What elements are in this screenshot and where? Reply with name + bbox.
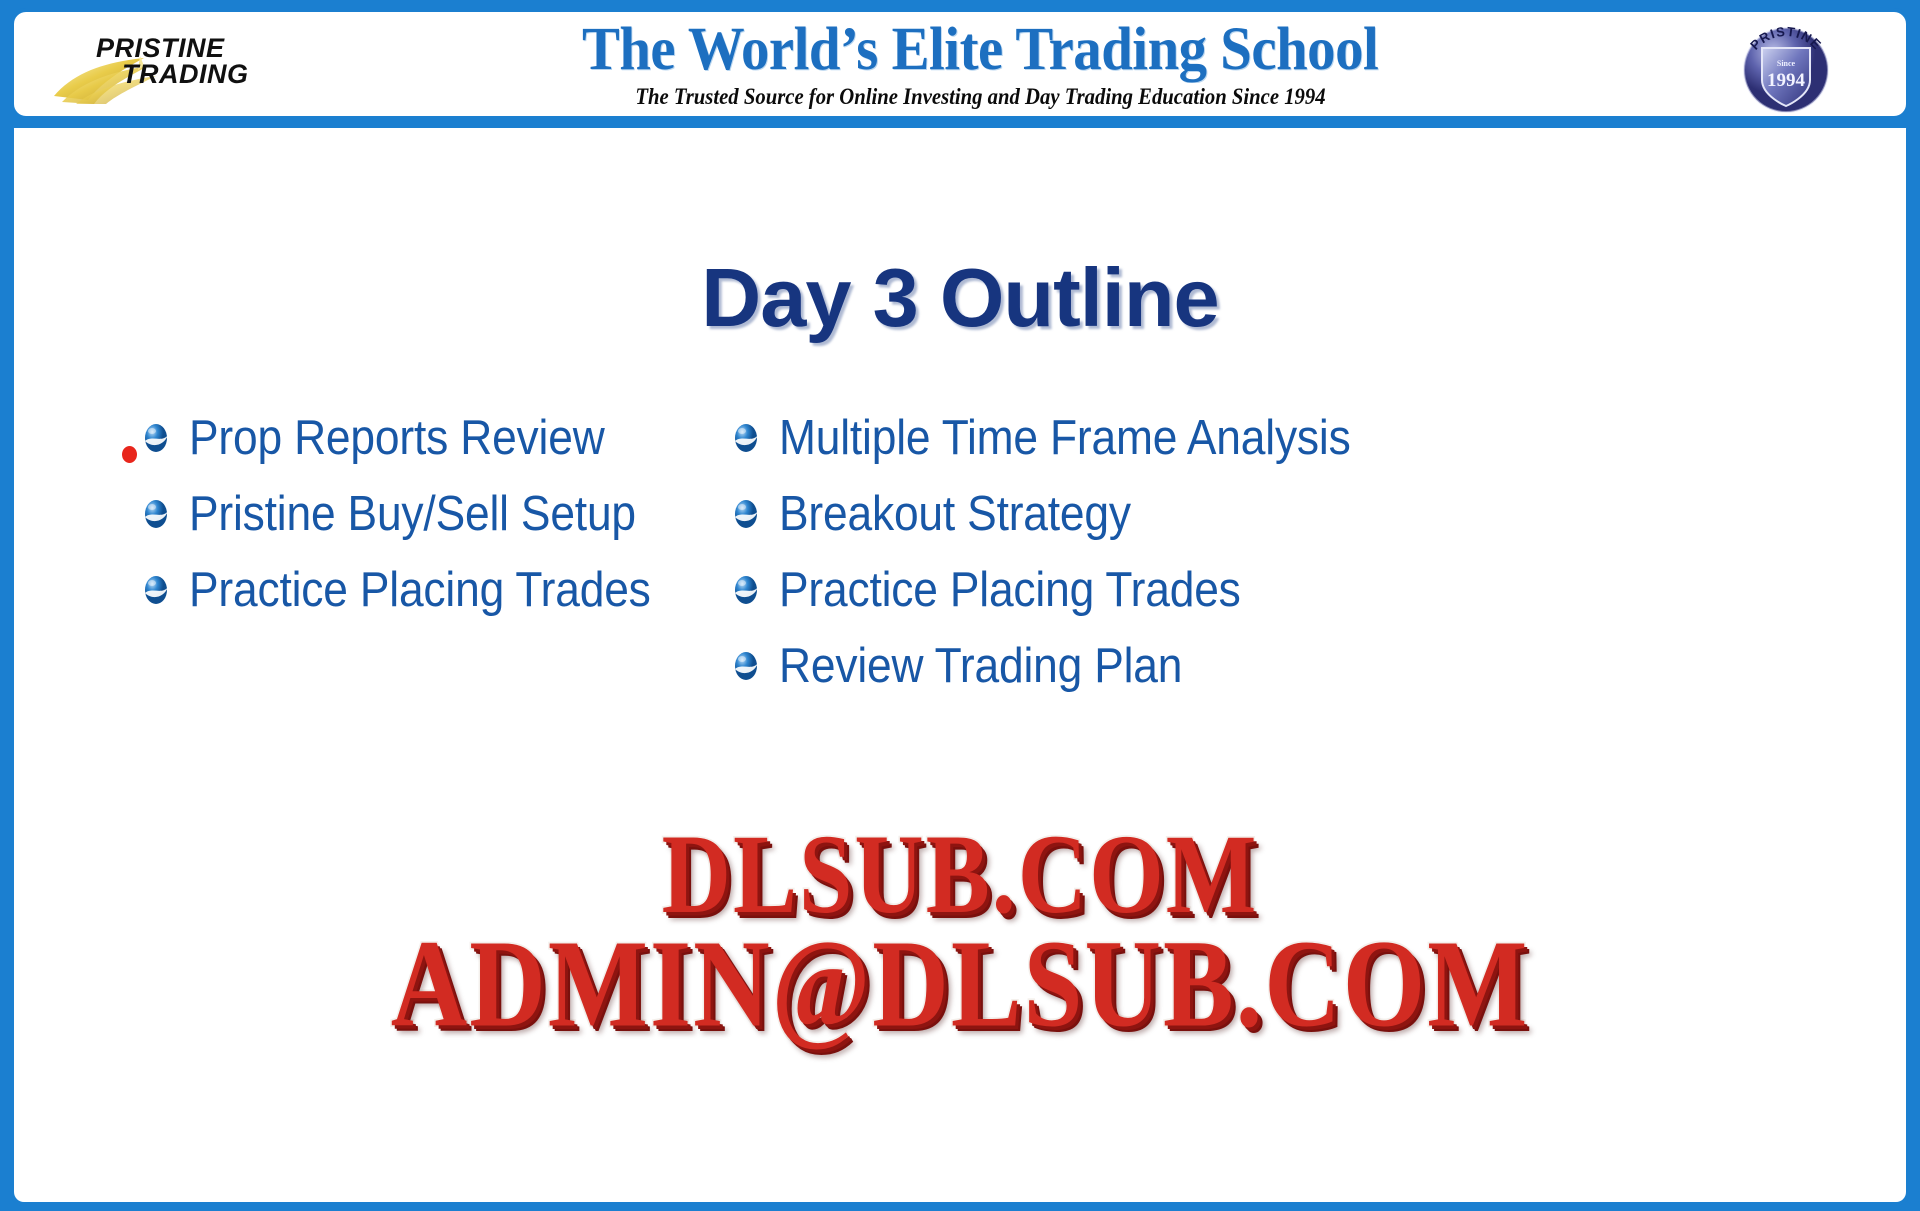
list-item-label: Review Trading Plan (779, 642, 1182, 691)
list-item[interactable]: Pristine Buy/Sell Setup (140, 476, 714, 552)
list-item-label: Multiple Time Frame Analysis (779, 414, 1351, 463)
seal-year-text: 1994 (1767, 70, 1806, 91)
globe-bullet-icon (140, 498, 172, 530)
list-item-label: Practice Placing Trades (779, 566, 1241, 615)
list-item[interactable]: Breakout Strategy (730, 476, 1774, 552)
watermark-line-2: ADMIN@DLSUB.COM (14, 923, 1906, 1045)
header-tagline: The Trusted Source for Online Investing … (635, 84, 1325, 110)
watermark-text: DLSUB.COM (662, 808, 1259, 939)
slide-root: PRISTINE TRADING The World’s Elite Tradi… (0, 0, 1920, 1211)
globe-bullet-icon (140, 422, 172, 454)
outline-column-right: Multiple Time Frame Analysis Breakout St… (714, 400, 1774, 704)
pristine-seal-icon: Since 1994 PRISTINE (1732, 18, 1840, 120)
header-text-block: The World’s Elite Trading School The Tru… (314, 12, 1646, 116)
list-item-label: Practice Placing Trades (189, 566, 651, 615)
header-title: The World’s Elite Trading School (582, 19, 1378, 80)
brand-line-2: TRADING (122, 62, 249, 88)
globe-bullet-icon (730, 574, 762, 606)
list-item-label: Pristine Buy/Sell Setup (189, 490, 636, 539)
list-item[interactable]: Multiple Time Frame Analysis (730, 400, 1774, 476)
list-item-label: Breakout Strategy (779, 490, 1131, 539)
brand-wordmark: PRISTINE TRADING (96, 36, 249, 87)
watermark-line-1: DLSUB.COM (14, 818, 1906, 929)
brand-line-1: PRISTINE (96, 36, 249, 62)
list-item[interactable]: Review Trading Plan (730, 628, 1774, 704)
list-item[interactable]: Practice Placing Trades (140, 552, 714, 628)
slide-header: PRISTINE TRADING The World’s Elite Tradi… (10, 8, 1910, 120)
outline-column-left: Prop Reports Review Pristine Buy/Sell Se… (14, 400, 714, 704)
seal-since-text: Since (1777, 59, 1796, 68)
globe-bullet-icon (140, 574, 172, 606)
list-item[interactable]: Practice Placing Trades (730, 552, 1774, 628)
globe-bullet-icon (730, 422, 762, 454)
page-title: Day 3 Outline (14, 250, 1906, 346)
outline-columns: Prop Reports Review Pristine Buy/Sell Se… (14, 400, 1906, 704)
watermark-text: ADMIN@DLSUB.COM (391, 912, 1530, 1056)
globe-bullet-icon (730, 498, 762, 530)
slide-body: Day 3 Outline (10, 128, 1910, 1206)
globe-bullet-icon (730, 650, 762, 682)
pristine-trading-logo: PRISTINE TRADING (48, 28, 288, 108)
list-item-label: Prop Reports Review (189, 414, 605, 463)
list-item[interactable]: Prop Reports Review (140, 400, 714, 476)
red-dot-marker (122, 446, 137, 463)
